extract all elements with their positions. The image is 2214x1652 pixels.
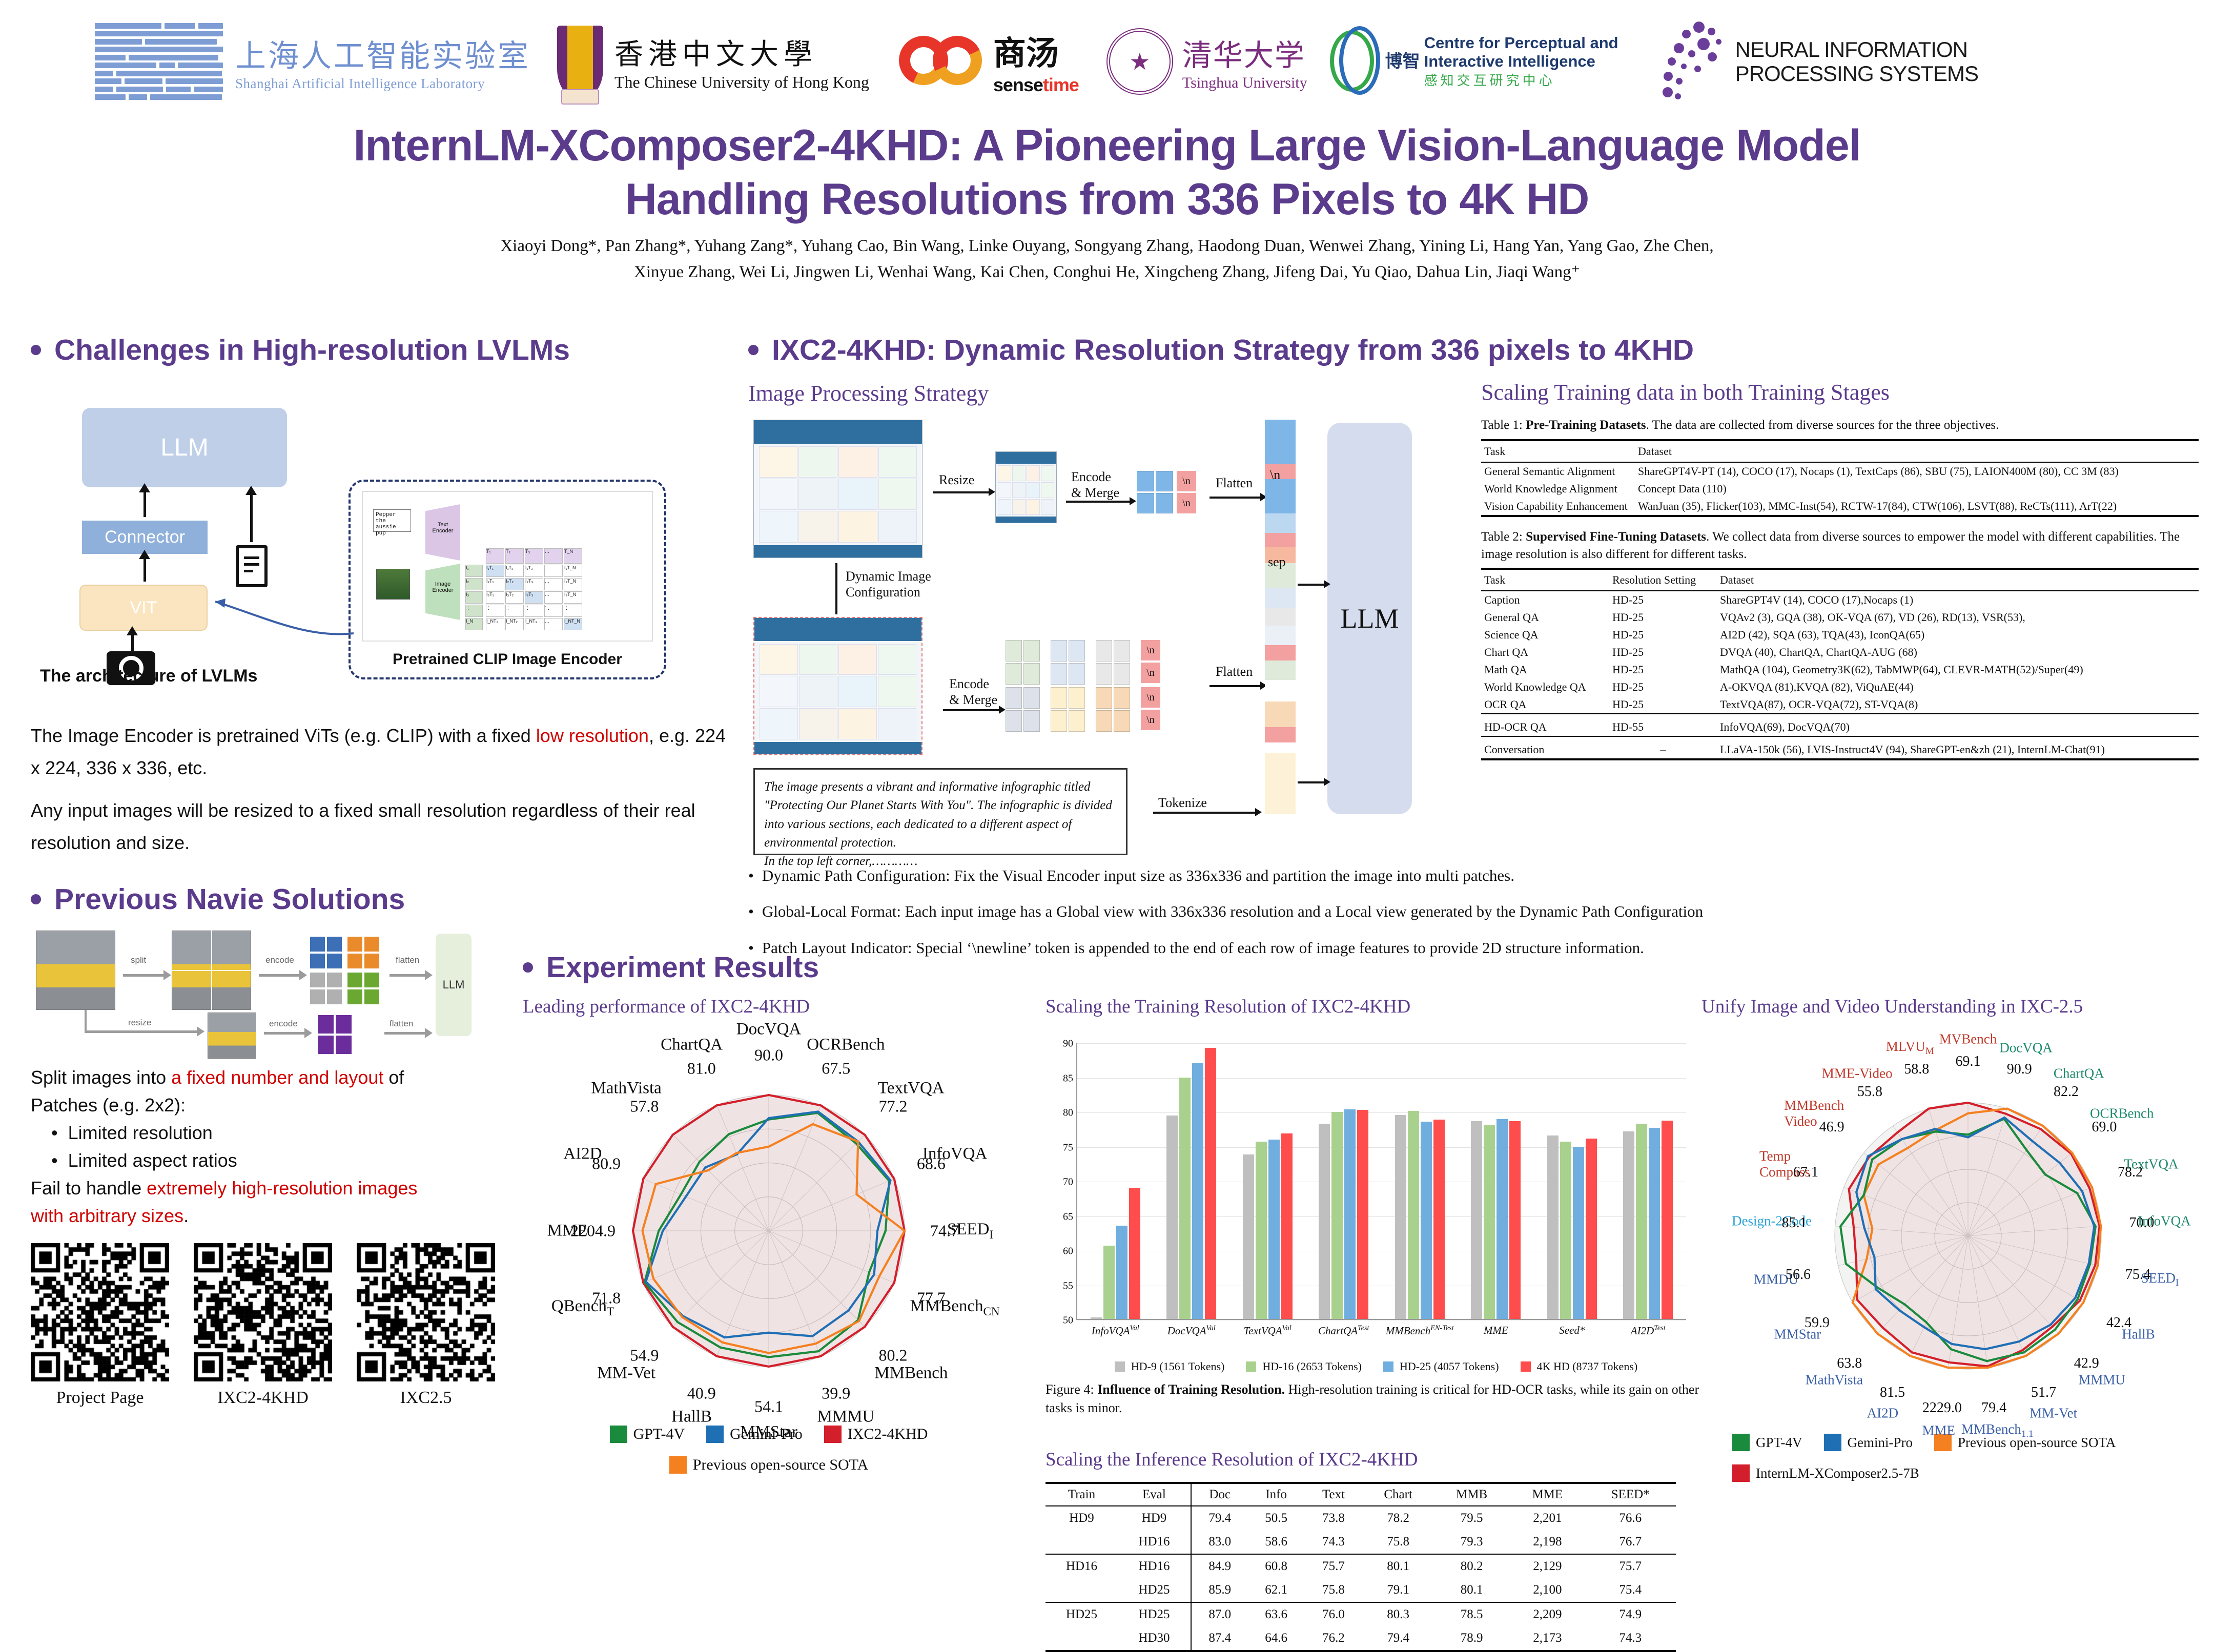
bar-groups: InfoVQAValDocVQAValTextVQAValChartQATest… (1077, 1043, 1686, 1319)
sensetime-cn: 商汤 (993, 27, 1079, 74)
radar-axis-label-MathVista: MathVista (591, 1079, 661, 1098)
panel4-title: Unify Image and Video Understanding in I… (1701, 996, 2214, 1018)
legend-item-previous-open-source-sota: Previous open-source SOTA (669, 1456, 869, 1474)
radar-value-InfoVQA: 70.0 (2129, 1215, 2155, 1231)
y-tick-50: 50 (1063, 1315, 1073, 1327)
bar-HD-16-ChartQA (1331, 1112, 1343, 1319)
bullet-dot-icon: • (748, 901, 754, 922)
radar-value-MMBench_CN: 77.7 (917, 1289, 946, 1308)
y-tick-75: 75 (1063, 1142, 1073, 1153)
qr-label-project-page: Project Page (31, 1388, 169, 1408)
t2-r2c0: Science QA (1481, 626, 1609, 644)
table-row: HD25HD2587.063.676.080.378.52,20974.9 (1045, 1602, 1676, 1626)
logo-sensetime: 商汤 sensetime (899, 27, 1079, 96)
panel3-title: Scaling the Inference Resolution of IXC2… (1045, 1449, 1707, 1471)
bar-4K-MME (1509, 1121, 1521, 1319)
navie-l1b: of (383, 1067, 404, 1088)
image-encoder-label: ImageEncoder (426, 581, 459, 593)
subsection-scaling-training-data: Scaling Training data in both Training S… (1481, 379, 2199, 405)
t2-conv-c1: – (1609, 736, 1717, 759)
y-tick-90: 90 (1063, 1038, 1073, 1050)
qr-code-ixc2-4khd[interactable] (194, 1243, 332, 1381)
bullet-dot-icon (523, 962, 533, 973)
newline-token-g1: \n (1177, 471, 1196, 491)
experiment-results-section: Experiment Results Leading performance o… (523, 951, 2214, 996)
bar-HD-16-MMBench (1408, 1111, 1419, 1319)
legend-swatch (1732, 1464, 1750, 1482)
arrow-split (123, 974, 164, 977)
label-encode-1: encode (265, 955, 294, 965)
inference-header-Info: Info (1248, 1483, 1304, 1506)
bar-HD-9-AI2D (1623, 1131, 1634, 1319)
t2-r0c1: HD-25 (1609, 591, 1717, 609)
cpii-en-line1: Centre for Perceptual and (1424, 34, 1618, 52)
neurips-text: NEURAL INFORMATION PROCESSING SYSTEMS (1735, 37, 1978, 86)
radar-value-HallB: 40.9 (687, 1383, 716, 1402)
arch-vit-box: VIT (79, 585, 208, 631)
table-row: HD-OCR QAHD-55InfoVQA(69), DocVQA(70) (1481, 714, 2199, 736)
x-tick-ChartQA: ChartQATest (1306, 1324, 1382, 1337)
bar-chart-training-resolution: 505560657075808590InfoVQAValDocVQAValTex… (1076, 1043, 1686, 1320)
inference-cell-r4c1: HD25 (1118, 1602, 1191, 1626)
infographic-footer-bar (754, 545, 922, 557)
radar-value-HallB: 42.4 (2106, 1315, 2131, 1331)
navie-l4b: . (183, 1205, 189, 1226)
legend-label: InternLM-XComposer2.5-7B (1756, 1465, 1919, 1481)
table2-header-row: Task Resolution Setting Dataset (1481, 569, 2199, 591)
inference-cell-r3c1: HD25 (1118, 1578, 1191, 1602)
inference-cell-r0c1: HD9 (1118, 1506, 1191, 1530)
t2-hd-ocr-c0: HD-OCR QA (1481, 714, 1609, 736)
table1-header-task: Task (1481, 440, 1635, 462)
t2-r1c0: General QA (1481, 609, 1609, 626)
global-patch-grid (1137, 471, 1173, 513)
clip-t-row: T₁T₂T₃…T_N (486, 548, 582, 564)
inference-cell-r0c8: 76.6 (1585, 1506, 1676, 1530)
x-tick-AI2D: AI2DTest (1610, 1324, 1687, 1337)
infographic-cells (759, 446, 917, 543)
navie-b1: Limited resolution (68, 1122, 213, 1143)
label-flatten-2: Flatten (1216, 664, 1253, 679)
document-icon (236, 545, 268, 587)
logo-cpii: 博智 Centre for Perceptual and Interactive… (1330, 23, 1618, 100)
radar-value-MMBench: 80.2 (879, 1346, 908, 1365)
inference-cell-r2c1: HD16 (1118, 1554, 1191, 1578)
radar-value-MMMU: 42.9 (2074, 1355, 2099, 1372)
radar-value-InfoVQA: 68.6 (917, 1154, 946, 1173)
inference-header-MME: MME (1510, 1483, 1585, 1506)
table1-r1-c0: World Knowledge Alignment (1481, 480, 1635, 498)
inference-header-SEED: SEED* (1585, 1483, 1676, 1506)
t2-r2c1: HD-25 (1609, 626, 1717, 644)
local-patch-grid-3 (1096, 640, 1130, 685)
cpii-mark-icon (1330, 23, 1381, 100)
inference-cell-r5c2: 87.4 (1191, 1626, 1248, 1651)
clip-dog-image (376, 569, 410, 600)
table2-body: CaptionHD-25ShareGPT4V (14), COCO (17),N… (1481, 591, 2199, 759)
radar-axis-label-AI2D: AI2D (1867, 1405, 1899, 1421)
navie-l3hl: extremely high-resolution images (147, 1178, 417, 1199)
newline-token-l1: \n (1141, 640, 1160, 660)
p1-hl-resolution: resolution (569, 725, 649, 746)
legend-item-hd-16-(2653-tokens): HD-16 (2653 Tokens) (1246, 1360, 1362, 1373)
table2-caption-prefix: Table 2: (1481, 530, 1526, 544)
method-bullets: •Dynamic Path Configuration: Fix the Vis… (748, 865, 2060, 958)
bar-HD-25-DocVQA (1192, 1063, 1203, 1319)
radar-value-AI2D: 81.5 (1880, 1385, 1905, 1401)
llm-block: LLM (1327, 423, 1412, 814)
text-token-column (1265, 753, 1296, 814)
bar-4K-Seed* (1586, 1139, 1597, 1319)
table-row: World Knowledge AlignmentConcept Data (1… (1481, 480, 2199, 498)
logo-cuhk: 香港中文大學 The Chinese University of Hong Ko… (557, 26, 869, 97)
table-row: General Semantic AlignmentShareGPT4V-PT … (1481, 462, 2199, 480)
radar-axis-label-MME-Video: MME-Video (1822, 1065, 1893, 1081)
arrow-cam-to-vit (131, 634, 134, 651)
bullet-dot-icon: • (748, 865, 754, 886)
text-encoder-label: TextEncoder (426, 522, 459, 534)
table1-r2-c1: WanJuan (35), Flicker(103), MMC-Inst(54)… (1635, 498, 2199, 516)
radar-axis-label-HallB: HallB (671, 1408, 712, 1427)
arrow-flatten-2 (1209, 685, 1261, 687)
clip-i-col: I₁I₂I₃⋮I_N (465, 565, 483, 630)
radar-value-MMMU: 39.9 (822, 1383, 850, 1402)
legend-label: HD-16 (2653 Tokens) (1262, 1360, 1362, 1373)
table-row: General QAHD-25VQAv2 (3), GQA (38), OK-V… (1481, 609, 2199, 626)
arrow-encode-merge-2 (943, 709, 999, 711)
radar-value-QBench_T: 71.8 (592, 1289, 621, 1308)
lvlm-architecture-diagram: LLM Connector VIT Pepper the aussie pup … (31, 382, 738, 690)
table-row: CaptionHD-25ShareGPT4V (14), COCO (17),N… (1481, 591, 2199, 609)
radar-value-MVBench: 69.1 (1956, 1054, 1981, 1070)
table2-header-task: Task (1481, 569, 1609, 591)
radar-value-ChartQA: 82.2 (2054, 1084, 2079, 1100)
inference-cell-r5c8: 74.3 (1585, 1626, 1676, 1651)
newline-token-l4: \n (1141, 710, 1160, 730)
cuhk-shield-icon (557, 26, 603, 97)
arrow-tokens-to-llm (1298, 584, 1324, 586)
legend-swatch (1246, 1361, 1256, 1372)
label-encode-merge-1: Encode& Merge (1071, 469, 1119, 501)
table1-caption-rest: . The data are collected from diverse so… (1646, 418, 1999, 432)
bar-4K-DocVQA (1205, 1048, 1216, 1319)
source-image (36, 931, 115, 1010)
radar-value-MME: 2229.0 (1922, 1400, 1962, 1416)
y-tick-85: 85 (1063, 1072, 1073, 1084)
logo-neurips: NEURAL INFORMATION PROCESSING SYSTEMS (1658, 20, 1978, 102)
local-patch-grid-2 (1051, 640, 1085, 685)
radar-value-MM-Vet: 54.9 (630, 1346, 659, 1365)
qr-item-project-page[interactable]: Project Page (31, 1243, 169, 1408)
bar-group-MME: MME (1458, 1043, 1534, 1319)
table1-body: General Semantic AlignmentShareGPT4V-PT … (1481, 462, 2199, 516)
inference-cell-r4c0: HD25 (1045, 1602, 1118, 1626)
inference-header-Train: Train (1045, 1483, 1118, 1506)
patch-tokens-orange (347, 937, 379, 968)
partitioned-footer-bar (754, 742, 921, 754)
table1-r0-c0: General Semantic Alignment (1481, 462, 1635, 480)
t2-r2c2: AI2D (42), SQA (63), TQA(43), IconQA(65) (1717, 626, 2199, 644)
t2-r3c2: DVQA (40), ChartQA, ChartQA-AUG (68) (1717, 644, 2199, 661)
bar-4K-TextVQA (1281, 1133, 1293, 1319)
inference-cell-r4c6: 78.5 (1433, 1602, 1510, 1626)
table-row: Chart QAHD-25DVQA (40), ChartQA, ChartQA… (1481, 644, 2199, 661)
t2-r1c2: VQAv2 (3), GQA (38), OK-VQA (67), VD (26… (1717, 609, 2199, 626)
local-patch-grid-5 (1051, 687, 1085, 732)
cuhk-en: The Chinese University of Hong Kong (614, 73, 869, 92)
author-line1: Xiaoyi Dong*, Pan Zhang*, Yuhang Zang*, … (0, 233, 2214, 259)
t2-r3c0: Chart QA (1481, 644, 1609, 661)
cpii-cn: 博智 (1385, 53, 1420, 70)
radar-value-MathVista: 63.8 (1837, 1355, 1862, 1372)
image-processing-strategy-diagram: Resize Encode& Merge \n \n Flatten Dynam… (748, 415, 1476, 814)
radar-axis-label-DocVQA: DocVQA (736, 1020, 801, 1039)
inference-cell-r0c3: 50.5 (1248, 1506, 1304, 1530)
figure4-caption: Figure 4: Influence of Training Resoluti… (1045, 1380, 1707, 1418)
section-ixc2-4khd-title: IXC2-4KHD: Dynamic Resolution Strategy f… (772, 333, 1694, 367)
radar-axis-label-MM-Vet: MM-Vet (597, 1364, 655, 1382)
fig4-bold: Influence of Training Resolution. (1097, 1382, 1285, 1397)
radar-axis-label-MMBench: MMBench (874, 1364, 948, 1382)
radar-chart-unify: MVBench69.1DocVQA90.9ChartQA82.2OCRBench… (1701, 1021, 2214, 1451)
inference-cell-r1c3: 58.6 (1248, 1530, 1304, 1554)
arrow-doc-to-llm (250, 494, 253, 542)
inference-header-Eval: Eval (1118, 1483, 1191, 1506)
section-challenges-title: Challenges in High-resolution LVLMs (54, 333, 570, 367)
inference-cell-r5c4: 76.2 (1304, 1626, 1363, 1651)
panel-unify-image-video: Unify Image and Video Understanding in I… (1701, 996, 2214, 1482)
inference-cell-r1c1: HD16 (1118, 1530, 1191, 1554)
arrow-flatten-1 (389, 974, 425, 977)
table-row: HD1683.058.674.375.879.32,19876.7 (1045, 1530, 1676, 1554)
inference-cell-r5c3: 64.6 (1248, 1626, 1304, 1651)
label-flatten-1: Flatten (1216, 475, 1253, 491)
poster-title-line1: InternLM-XComposer2-4KHD: A Pioneering L… (0, 119, 2214, 173)
legend-label: 4K HD (8737 Tokens) (1537, 1360, 1638, 1373)
legend-item-hd-25-(4057-tokens): HD-25 (4057 Tokens) (1383, 1360, 1499, 1373)
patch-tokens-blue (310, 937, 342, 968)
arrow-text-to-llm (1298, 781, 1324, 783)
shanghai-ai-lab-mark (95, 23, 223, 100)
bar-HD-9-Seed* (1547, 1135, 1559, 1319)
sensetime-en-a: sense (993, 74, 1043, 95)
table1-pretraining-datasets: Task Dataset General Semantic AlignmentS… (1481, 439, 2199, 517)
radar-value-DocVQA: 90.9 (2007, 1061, 2032, 1078)
inference-cell-r5c5: 79.4 (1363, 1626, 1433, 1651)
inference-cell-r2c5: 80.1 (1363, 1554, 1433, 1578)
inference-cell-r0c4: 73.8 (1304, 1506, 1363, 1530)
clip-caption: Pretrained CLIP Image Encoder (351, 651, 664, 668)
section-ixc2-4khd: IXC2-4KHD: Dynamic Resolution Strategy f… (748, 333, 1978, 367)
arrow-encode-merge-1 (1066, 501, 1130, 503)
label-encode-merge-2: Encode& Merge (949, 676, 997, 708)
bar-group-TextVQA: TextVQAVal (1229, 1043, 1306, 1319)
table2-caption: Table 2: Supervised Fine-Tuning Datasets… (1481, 528, 2199, 563)
arrow-tokenize (1153, 812, 1256, 814)
legend-label: HD-25 (4057 Tokens) (1400, 1360, 1499, 1373)
inference-cell-r2c0: HD16 (1045, 1554, 1118, 1578)
logo-shanghai-ai-lab: 上海人工智能实验室 Shanghai Artificial Intelligen… (95, 23, 530, 100)
middle-column: IXC2-4KHD: Dynamic Resolution Strategy f… (748, 333, 1476, 974)
table1-r0-c1: ShareGPT4V-PT (14), COCO (17), Nocaps (1… (1635, 462, 2199, 480)
bar-HD-16-MME (1484, 1125, 1495, 1319)
t2-r5c0: World Knowledge QA (1481, 678, 1609, 696)
navie-l1hl: a fixed number and layout (171, 1067, 383, 1088)
arrow-flatten-1 (1209, 497, 1261, 499)
bar-4K-ChartQA (1357, 1110, 1368, 1319)
table-row: HD16HD1684.960.875.780.180.22,12975.7 (1045, 1554, 1676, 1578)
table-row: HD3087.464.676.279.478.92,17374.3 (1045, 1626, 1676, 1651)
inference-cell-r0c2: 79.4 (1191, 1506, 1248, 1530)
legend-item-internlm-xcomposer2.5-7b: InternLM-XComposer2.5-7B (1732, 1464, 1919, 1482)
resize-elbow (85, 1010, 87, 1031)
tsinghua-en: Tsinghua University (1182, 74, 1307, 92)
table2-header-dataset: Dataset (1717, 569, 2199, 591)
legend-label: HD-9 (1561 Tokens) (1131, 1360, 1225, 1373)
inference-cell-r2c8: 75.7 (1585, 1554, 1676, 1578)
bar-HD-9-MMBench (1395, 1115, 1406, 1319)
inference-cell-r3c2: 85.9 (1191, 1578, 1248, 1602)
table-row: Conversation–LLaVA-150k (56), LVIS-Instr… (1481, 736, 2199, 759)
radar-axis-label-MMMU: MMMU (817, 1408, 874, 1427)
author-line2: Xinyue Zhang, Wei Li, Jingwen Li, Wenhai… (0, 259, 2214, 285)
y-tick-70: 70 (1063, 1176, 1073, 1188)
bar-HD-25-MME (1496, 1119, 1508, 1319)
bar-HD-16-AI2D (1636, 1124, 1647, 1319)
inference-cell-r2c2: 84.9 (1191, 1554, 1248, 1578)
radar-value-AI2D: 80.9 (592, 1154, 621, 1173)
logo-tsinghua: 清华大学 Tsinghua University (1106, 28, 1307, 95)
qr-label-ixc2-4khd: IXC2-4KHD (194, 1388, 332, 1408)
qr-item-ixc25[interactable]: IXC2.5 (357, 1243, 495, 1408)
y-tick-80: 80 (1063, 1107, 1073, 1119)
t2-r6c0: OCR QA (1481, 696, 1609, 714)
inference-cell-r0c0: HD9 (1045, 1506, 1118, 1530)
radar-axis-label-DocVQA: DocVQA (1999, 1040, 2052, 1056)
inference-table-body: HD9HD979.450.573.878.279.52,20176.6HD168… (1045, 1506, 1676, 1651)
legend-swatch (1115, 1361, 1125, 1372)
arrow-dynamic-config (835, 563, 837, 614)
table1-caption-prefix: Table 1: (1481, 418, 1526, 432)
arch-connector-box: Connector (82, 521, 208, 554)
t2-conv-c0: Conversation (1481, 736, 1609, 759)
radar-chart-leading-performance: DocVQA90.0OCRBench67.5TextVQA77.2InfoVQA… (523, 1021, 1015, 1441)
inference-header-Text: Text (1304, 1483, 1363, 1506)
arrow-resize (933, 491, 989, 493)
neurips-line2: PROCESSING SYSTEMS (1735, 61, 1978, 86)
caption-box: The image presents a vibrant and informa… (753, 768, 1127, 855)
radar-value-SEED_I: 74.7 (930, 1222, 959, 1241)
t2-r0c0: Caption (1481, 591, 1609, 609)
radar-axis-label-ChartQA: ChartQA (2054, 1065, 2104, 1081)
section-previous-solutions-title: Previous Navie Solutions (54, 882, 405, 916)
table2-sft-datasets: Task Resolution Setting Dataset CaptionH… (1481, 568, 2199, 760)
inference-cell-r3c5: 79.1 (1363, 1578, 1433, 1602)
t2-r4c2: MathQA (104), Geometry3K(62), TabMWP(64)… (1717, 661, 2199, 678)
shanghai-ai-lab-cn: 上海人工智能实验室 (235, 31, 530, 76)
label-newline-token-a: \n (1270, 467, 1280, 483)
partitioned-infographic (753, 617, 922, 755)
radar-series-ixc2-4khd (633, 1095, 905, 1367)
resized-title-bar (996, 452, 1056, 464)
section-experiment-results-title: Experiment Results (546, 951, 819, 984)
bullet-dot-icon (31, 894, 41, 904)
inference-cell-r1c6: 79.3 (1433, 1530, 1510, 1554)
method-bullet-1: •Dynamic Path Configuration: Fix the Vis… (748, 865, 2060, 886)
label-dynamic-config: Dynamic ImageConfiguration (846, 568, 931, 600)
radar-axis-label-MMBench_1.1: MMBench1.1 (1961, 1421, 2034, 1440)
radar-value-MME-Video: 55.8 (1857, 1084, 1882, 1100)
panel-training-resolution: Scaling the Training Resolution of IXC2-… (1045, 996, 1707, 1652)
patch-tokens-purple (318, 1015, 352, 1054)
bar-HD-25-Seed* (1573, 1147, 1584, 1319)
radar-value-OCRBench: 67.5 (822, 1059, 850, 1078)
inference-cell-r1c4: 74.3 (1304, 1530, 1363, 1554)
t2-r4c1: HD-25 (1609, 661, 1717, 678)
table-inference-resolution: TrainEvalDocInfoTextChartMMBMMESEED*HD9H… (1045, 1482, 1676, 1652)
label-sep-token: sep (1268, 554, 1286, 570)
resized-cells (998, 465, 1055, 515)
bar-group-AI2D: AI2DTest (1610, 1043, 1687, 1319)
table1-header-row: Task Dataset (1481, 440, 2199, 462)
radar-axis-label-MM-Vet: MM-Vet (2029, 1405, 2077, 1421)
qr-code-ixc25[interactable] (357, 1243, 495, 1381)
table1-caption-bold: Pre-Training Datasets (1526, 418, 1646, 432)
legend-swatch (669, 1456, 687, 1474)
local-patch-grid-6 (1096, 687, 1130, 732)
poster-title-line2: Handling Resolutions from 336 Pixels to … (0, 173, 2214, 226)
bar-HD-25-TextVQA (1268, 1140, 1280, 1319)
cpii-cn-line2: 感知交互研究中心 (1424, 70, 1618, 89)
table-row: HD2585.962.175.879.180.12,10075.4 (1045, 1578, 1676, 1602)
t2-r5c1: HD-25 (1609, 678, 1717, 696)
inference-cell-r1c2: 83.0 (1191, 1530, 1248, 1554)
infographic-title-bar (754, 420, 922, 444)
inference-cell-r4c5: 80.3 (1363, 1602, 1433, 1626)
navie-b2: Limited aspect ratios (68, 1150, 237, 1171)
table1-caption: Table 1: Pre-Training Datasets. The data… (1481, 417, 2199, 434)
section-previous-solutions: Previous Navie Solutions (31, 882, 738, 916)
table1-header-dataset: Dataset (1635, 440, 2199, 462)
inference-cell-r5c6: 78.9 (1433, 1626, 1510, 1651)
section-experiment-results: Experiment Results (523, 951, 2214, 984)
neurips-line1: NEURAL INFORMATION (1735, 37, 1978, 61)
resized-infographic (995, 451, 1057, 523)
qr-item-ixc2-4khd[interactable]: IXC2-4KHD (194, 1243, 332, 1408)
arrow-encode-2 (264, 1032, 305, 1035)
radar-value-TextVQA: 77.2 (879, 1097, 908, 1116)
inference-cell-r1c8: 76.7 (1585, 1530, 1676, 1554)
qr-code-project-page[interactable] (31, 1243, 169, 1381)
table-row: Math QAHD-25MathQA (104), Geometry3K(62)… (1481, 661, 2199, 678)
t2-r3c1: HD-25 (1609, 644, 1717, 661)
bar-HD-9-DocVQA (1166, 1116, 1178, 1319)
radar-value-MathVista: 57.8 (630, 1097, 659, 1116)
partitioned-cells (760, 644, 916, 739)
clip-encoder-panel: Pepper the aussie pup TextEncoder T₁T₂T₃… (348, 480, 666, 679)
shanghai-ai-lab-en: Shanghai Artificial Intelligence Laborat… (235, 76, 530, 92)
panel-inference-resolution: Scaling the Inference Resolution of IXC2… (1045, 1449, 1707, 1652)
tsinghua-cn: 清华大学 (1182, 31, 1307, 74)
inference-header-MMB: MMB (1433, 1483, 1510, 1506)
radar-right-svg (1701, 1021, 2214, 1451)
bar-HD-25-MMBench (1421, 1122, 1432, 1319)
newline-token-l3: \n (1141, 687, 1160, 708)
radar-axis-label-TextVQA: TextVQA (878, 1079, 945, 1098)
radar-axis-label-MLVU_M: MLVUM (1886, 1039, 1934, 1057)
radar-axis-label-ChartQA: ChartQA (661, 1035, 723, 1054)
qr-label-ixc25: IXC2.5 (357, 1388, 495, 1408)
